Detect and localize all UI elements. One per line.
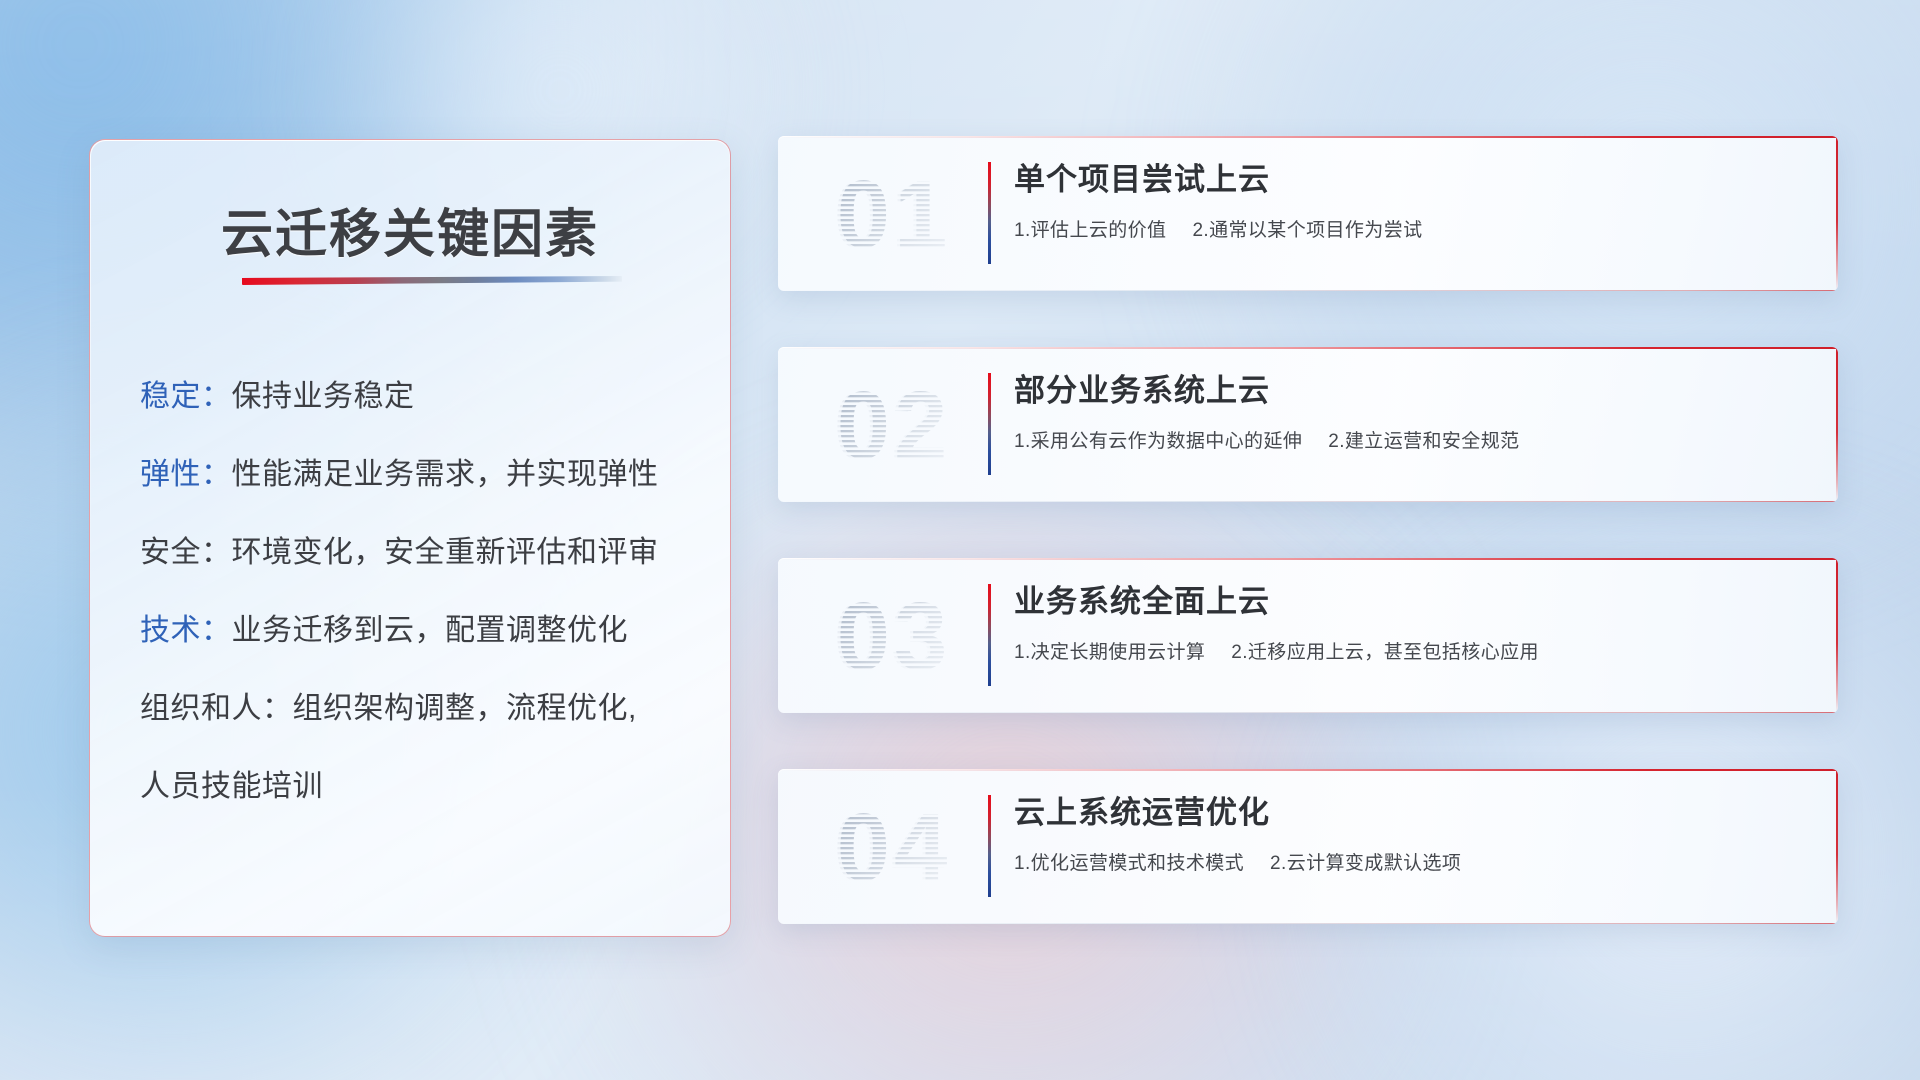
key-factor-line: 稳定：保持业务稳定	[140, 358, 694, 436]
card-point-1: 1.评估上云的价值	[1014, 220, 1166, 241]
card-divider-bar	[988, 373, 991, 475]
key-factor-label: 组织和人：	[140, 692, 293, 725]
svg-text:04: 04	[837, 794, 952, 901]
card-subtitle: 1.采用公有云作为数据中心的延伸2.建立运营和安全规范	[1014, 429, 1810, 455]
key-factor-label: 稳定：	[140, 380, 232, 413]
card-title: 云上系统运营优化	[1014, 791, 1810, 835]
maturity-stage-card[interactable]: 0303业务系统全面上云1.决定长期使用云计算2.迁移应用上云，甚至包括核心应用	[778, 558, 1838, 713]
key-factor-line: 技术：业务迁移到云，配置调整优化	[140, 592, 694, 670]
card-subtitle: 1.优化运营模式和技术模式2.云计算变成默认选项	[1014, 851, 1810, 877]
title-underline-bar	[242, 276, 622, 285]
panel-title: 云迁移关键因素	[90, 192, 730, 267]
card-step-number-watermark: 0303	[804, 581, 984, 691]
card-point-1: 1.优化运营模式和技术模式	[1014, 853, 1244, 874]
card-right-accent-line	[1836, 769, 1838, 924]
card-top-accent-line	[778, 347, 1838, 349]
card-point-2: 2.通常以某个项目作为尝试	[1192, 220, 1422, 241]
slide-stage: 云迁移关键因素 稳定：保持业务稳定弹性：性能满足业务需求，并实现弹性安全：环境变…	[0, 0, 1920, 1080]
card-divider-bar	[988, 162, 991, 264]
key-factor-line: 组织和人：组织架构调整，流程优化,	[140, 670, 694, 748]
card-right-accent-line	[1836, 558, 1838, 713]
key-factor-text: 组织架构调整，流程优化,	[293, 692, 637, 725]
card-point-1: 1.采用公有云作为数据中心的延伸	[1014, 431, 1302, 452]
key-factor-text: 业务迁移到云，配置调整优化	[232, 614, 629, 647]
card-divider-bar	[988, 795, 991, 897]
card-body: 业务系统全面上云1.决定长期使用云计算2.迁移应用上云，甚至包括核心应用	[1014, 580, 1810, 666]
card-top-accent-line	[778, 136, 1838, 138]
key-factors-panel: 云迁移关键因素 稳定：保持业务稳定弹性：性能满足业务需求，并实现弹性安全：环境变…	[89, 139, 731, 937]
key-factor-line: 弹性：性能满足业务需求，并实现弹性	[140, 436, 694, 514]
card-title: 单个项目尝试上云	[1014, 158, 1810, 202]
card-right-accent-line	[1836, 347, 1838, 502]
card-title: 部分业务系统上云	[1014, 369, 1810, 413]
key-factor-label: 技术：	[140, 614, 232, 647]
key-factors-list: 稳定：保持业务稳定弹性：性能满足业务需求，并实现弹性安全：环境变化，安全重新评估…	[140, 358, 694, 826]
card-step-number-watermark: 0202	[804, 370, 984, 480]
card-right-accent-line	[1836, 136, 1838, 291]
key-factor-label: 弹性：	[140, 458, 232, 491]
card-body: 单个项目尝试上云1.评估上云的价值2.通常以某个项目作为尝试	[1014, 158, 1810, 244]
maturity-stage-card[interactable]: 0101单个项目尝试上云1.评估上云的价值2.通常以某个项目作为尝试	[778, 136, 1838, 291]
card-body: 云上系统运营优化1.优化运营模式和技术模式2.云计算变成默认选项	[1014, 791, 1810, 877]
card-bottom-accent-line	[778, 501, 1838, 502]
key-factor-label: 安全：	[140, 536, 232, 569]
card-top-accent-line	[778, 769, 1838, 771]
maturity-stage-card[interactable]: 0404云上系统运营优化1.优化运营模式和技术模式2.云计算变成默认选项	[778, 769, 1838, 924]
card-bottom-accent-line	[778, 923, 1838, 924]
card-title: 业务系统全面上云	[1014, 580, 1810, 624]
card-divider-bar	[988, 584, 991, 686]
key-factor-line: 安全：环境变化，安全重新评估和评审	[140, 514, 694, 592]
card-body: 部分业务系统上云1.采用公有云作为数据中心的延伸2.建立运营和安全规范	[1014, 369, 1810, 455]
svg-text:03: 03	[837, 583, 952, 690]
key-factor-text: 人员技能培训	[140, 770, 323, 803]
card-point-2: 2.迁移应用上云，甚至包括核心应用	[1231, 642, 1539, 663]
key-factor-text: 保持业务稳定	[232, 380, 415, 413]
card-subtitle: 1.决定长期使用云计算2.迁移应用上云，甚至包括核心应用	[1014, 640, 1810, 666]
card-bottom-accent-line	[778, 712, 1838, 713]
card-bottom-accent-line	[778, 290, 1838, 291]
key-factor-text: 环境变化，安全重新评估和评审	[232, 536, 659, 569]
card-point-2: 2.云计算变成默认选项	[1270, 853, 1461, 874]
card-top-accent-line	[778, 558, 1838, 560]
maturity-stage-card[interactable]: 0202部分业务系统上云1.采用公有云作为数据中心的延伸2.建立运营和安全规范	[778, 347, 1838, 502]
card-step-number-watermark: 0101	[804, 159, 984, 269]
card-point-1: 1.决定长期使用云计算	[1014, 642, 1205, 663]
svg-text:02: 02	[837, 372, 952, 479]
card-step-number-watermark: 0404	[804, 792, 984, 902]
key-factor-line: 人员技能培训	[140, 748, 694, 826]
svg-text:01: 01	[837, 161, 952, 268]
key-factor-text: 性能满足业务需求，并实现弹性	[232, 458, 659, 491]
card-point-2: 2.建立运营和安全规范	[1328, 431, 1519, 452]
maturity-stage-card-list: 0101单个项目尝试上云1.评估上云的价值2.通常以某个项目作为尝试0202部分…	[778, 136, 1838, 980]
card-subtitle: 1.评估上云的价值2.通常以某个项目作为尝试	[1014, 218, 1810, 244]
